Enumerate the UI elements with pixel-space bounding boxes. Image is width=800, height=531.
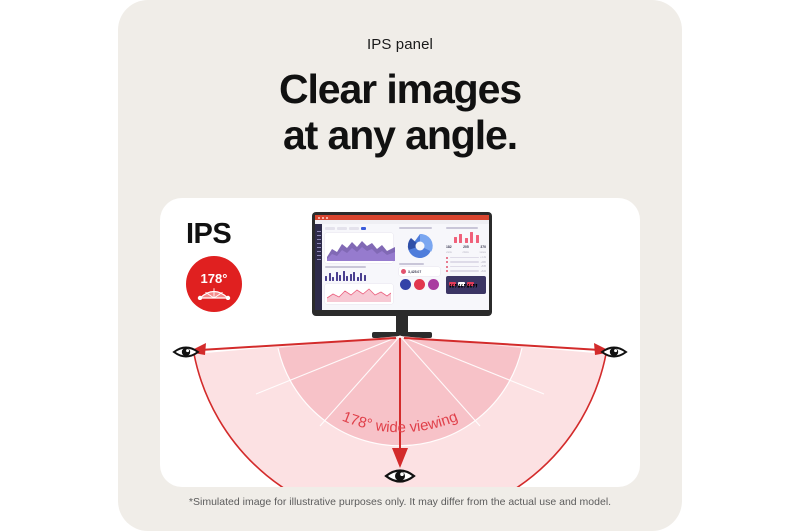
- kpi-circle-3: [428, 279, 439, 290]
- list-item-value: +632: [481, 270, 486, 273]
- list-item: +632: [446, 270, 486, 273]
- headline-line-1: Clear images: [279, 66, 521, 112]
- eye-icon: [386, 471, 414, 482]
- viewing-angle-badge: 178°: [186, 256, 242, 312]
- eyebrow-label: IPS panel: [118, 36, 682, 53]
- metric-card: 3,425.07: [399, 267, 440, 276]
- list-item-value: +980: [481, 261, 486, 264]
- list-item: +980: [446, 261, 486, 264]
- disclaimer-text: *Simulated image for illustrative purpos…: [118, 496, 682, 508]
- illustration-card: IPS 178°: [160, 198, 640, 487]
- line-chart-card: [325, 284, 393, 304]
- dashboard-titlebar: [315, 215, 489, 220]
- monitor-icon: 3,425.07: [312, 212, 492, 337]
- section-title-overview: [399, 227, 432, 229]
- monitor-screen: 3,425.07: [315, 215, 489, 310]
- list-item-value: +845: [481, 265, 486, 268]
- line-chart: [327, 286, 391, 302]
- dashboard-filter-chips[interactable]: [325, 227, 393, 230]
- eye-icon: [174, 348, 198, 357]
- ranked-list: +1.2k +980 +845 +632: [446, 256, 486, 273]
- promo-widget: [446, 276, 486, 294]
- dashboard-column-mid: 3,425.07: [396, 224, 443, 310]
- kpi-circle-1: [400, 279, 411, 290]
- dashboard-column-right: 182 205 370 visits clicks views +1.2k +9…: [443, 224, 489, 310]
- list-item: +845: [446, 265, 486, 268]
- stat-sub: clicks: [462, 251, 468, 254]
- metric-icon: [401, 269, 406, 274]
- dashboard-column-main: [322, 224, 396, 310]
- window-dots: [318, 217, 328, 219]
- kpi-circles: [399, 279, 440, 290]
- screenshot-root: IPS panel Clear images at any angle. IPS…: [0, 0, 800, 531]
- stat-value: 182: [446, 245, 452, 249]
- list-item-value: +1.2k: [480, 256, 486, 259]
- stat-value: 370: [480, 245, 486, 249]
- stat-row: 182 205 370: [446, 245, 486, 249]
- metric-value: 3,425.07: [408, 270, 421, 274]
- viewing-angle-diagram: 178° wide viewing: [160, 328, 640, 487]
- section-title-revenue: [325, 266, 366, 268]
- section-title-sessions: [399, 263, 424, 265]
- list-item: +1.2k: [446, 256, 486, 259]
- stat-sub-row: visits clicks views: [446, 251, 486, 254]
- dashboard-body: 3,425.07: [315, 224, 489, 310]
- promo-bars: [449, 282, 474, 286]
- eye-icon: [602, 348, 626, 357]
- dashboard-sidebar[interactable]: [315, 224, 322, 310]
- area-chart: [327, 235, 395, 261]
- area-chart-card: [325, 233, 393, 263]
- stat-sub: views: [479, 251, 486, 254]
- bar-chart: [325, 270, 393, 281]
- donut-chart: [403, 231, 437, 261]
- page-title: Clear images at any angle.: [118, 66, 682, 158]
- viewing-fan-icon: [197, 286, 231, 300]
- stat-sub: visits: [446, 251, 452, 254]
- section-title-statistics: [446, 227, 478, 229]
- ips-label: IPS: [186, 218, 231, 251]
- kpi-circle-2: [414, 279, 425, 290]
- stat-value: 205: [463, 245, 469, 249]
- headline-line-2: at any angle.: [118, 112, 682, 158]
- mini-bar-chart: [446, 231, 486, 243]
- badge-degrees: 178°: [201, 272, 228, 285]
